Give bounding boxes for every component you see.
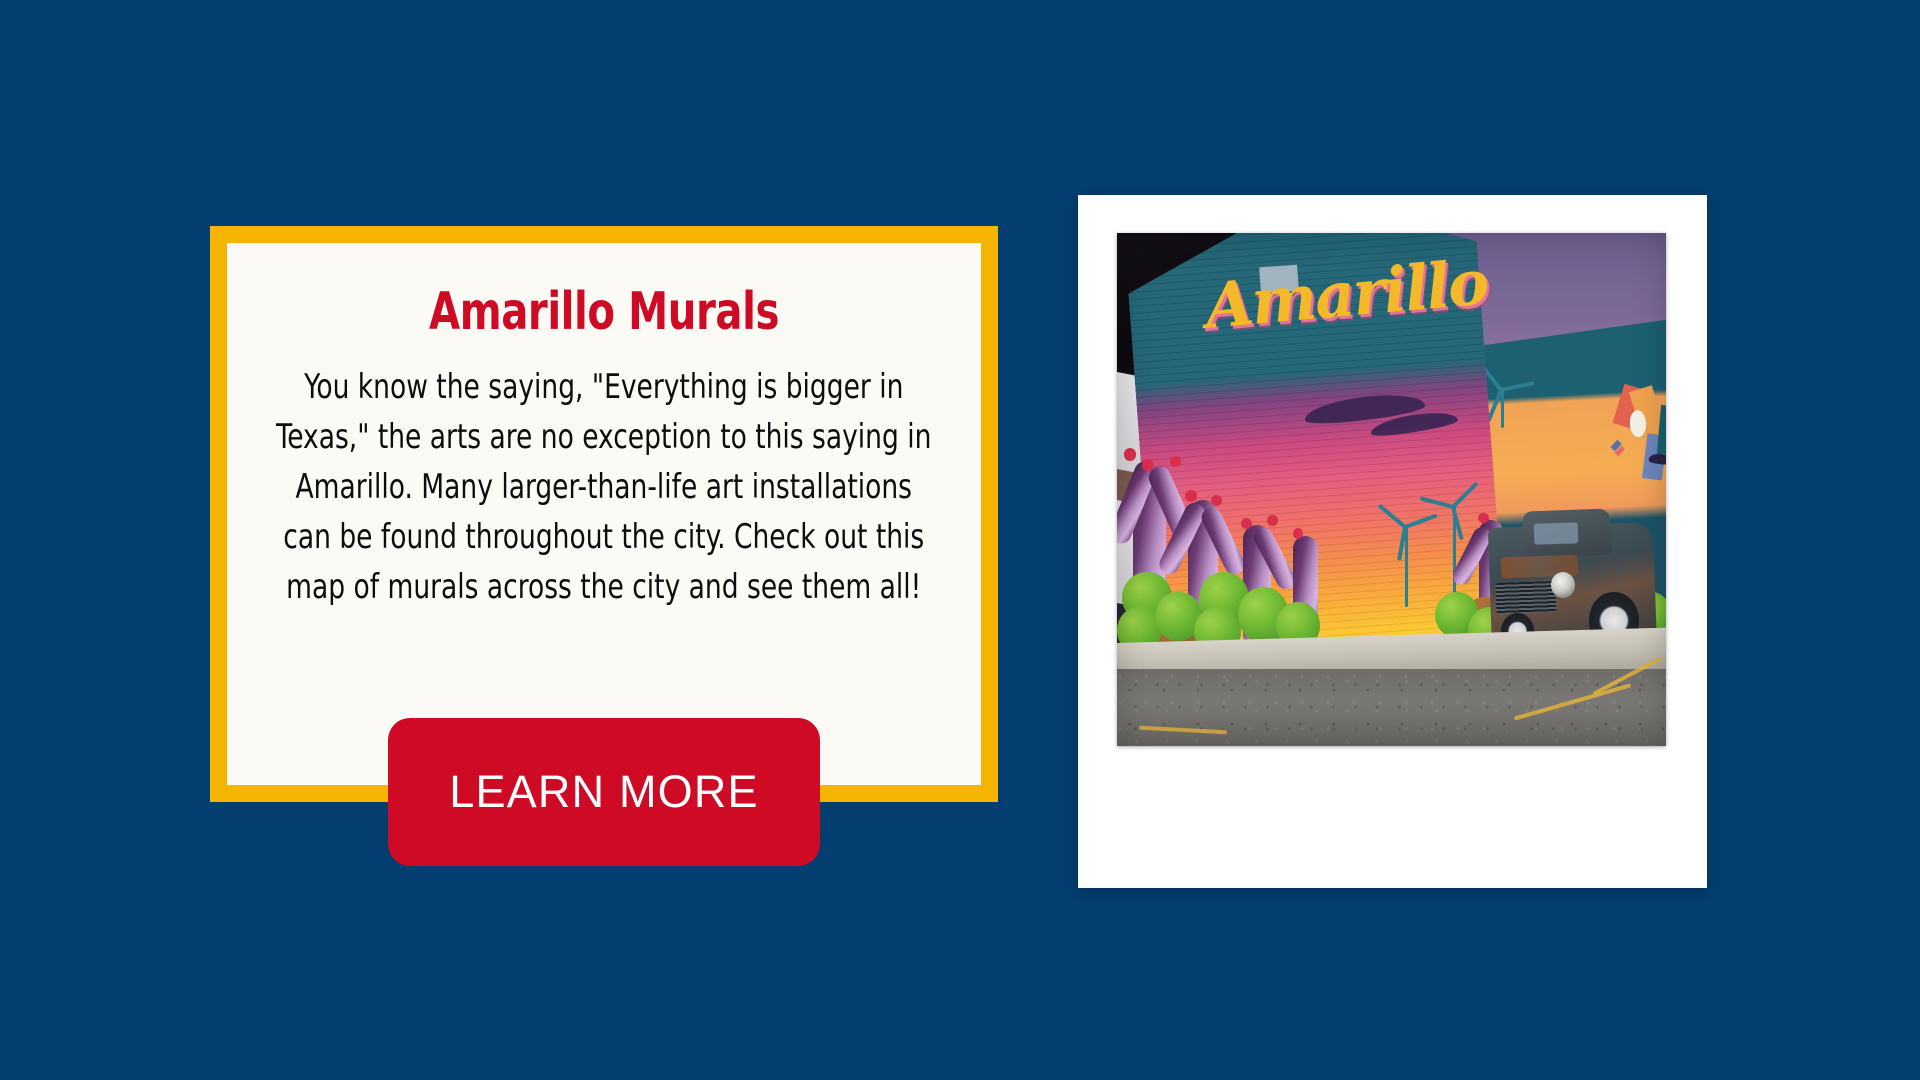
promo-card: Amarillo Murals You know the saying, "Ev… xyxy=(210,226,998,802)
page-title: Amarillo Murals xyxy=(321,285,887,340)
card-body-text: You know the saying, "Everything is bigg… xyxy=(275,362,933,612)
cactus-flower-icon xyxy=(1241,518,1252,529)
cactus-flower-icon xyxy=(1170,456,1181,467)
cactus-flower-icon xyxy=(1293,528,1303,539)
wall-vent-panel xyxy=(1259,265,1299,293)
truck-grille xyxy=(1495,581,1556,614)
truck-headlight-icon xyxy=(1550,571,1575,597)
promo-card-content: Amarillo Murals You know the saying, "Ev… xyxy=(227,243,981,785)
mural-photo: Amarillo xyxy=(1117,233,1666,746)
asphalt-texture xyxy=(1117,669,1666,746)
cactus-flower-icon xyxy=(1478,513,1488,524)
cactus-flower-icon xyxy=(1185,490,1197,502)
learn-more-button[interactable]: LEARN MORE xyxy=(388,718,820,866)
truck-window xyxy=(1534,522,1579,544)
cactus-flower-icon xyxy=(1124,448,1136,460)
photo-frame: Amarillo xyxy=(1078,195,1707,888)
